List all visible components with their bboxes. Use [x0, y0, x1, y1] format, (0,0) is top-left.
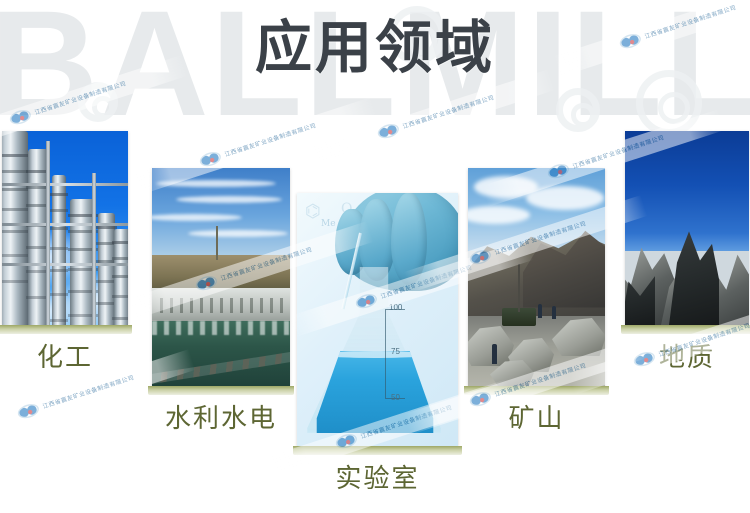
- fuxin-logo-icon: [198, 150, 223, 169]
- panel-mine-base: [464, 386, 609, 395]
- panel-mine-photo: [468, 168, 605, 386]
- panel-hydropower-base: [148, 386, 294, 395]
- gear-watermark-icon: [556, 88, 600, 132]
- application-fields-banner: BALL MILL 应用领域: [0, 0, 750, 513]
- flask-graduation-100: 100: [389, 303, 402, 312]
- panel-mine[interactable]: 矿山: [468, 168, 605, 424]
- panel-geology-caption: 地质: [595, 337, 750, 374]
- gear-watermark-icon: [78, 82, 118, 122]
- panel-laboratory-base: [293, 446, 462, 455]
- panel-chemical[interactable]: 化工: [2, 131, 128, 371]
- panel-chemical-caption: 化工: [0, 337, 158, 374]
- panel-geology[interactable]: 地质: [625, 131, 749, 371]
- panel-mine-caption: 矿山: [438, 398, 635, 435]
- panel-hydropower-caption: 水利水电: [122, 398, 320, 435]
- lab-formula-decor: ⌬: [305, 201, 321, 222]
- fuxin-logo-icon: [16, 402, 41, 421]
- panel-laboratory[interactable]: Me ⌬ O 100 75 50 实验室: [297, 193, 458, 483]
- panel-geology-base: [621, 325, 750, 334]
- panel-laboratory-caption: 实验室: [267, 458, 488, 495]
- lab-formula-label: Me: [321, 219, 336, 229]
- logo-watermark: 江西省赢友矿业设备制造有限公司: [16, 371, 136, 421]
- page-title: 应用领域: [0, 16, 750, 82]
- panel-laboratory-photo: Me ⌬ O 100 75 50: [297, 193, 458, 446]
- panel-chemical-base: [0, 325, 132, 334]
- flask-graduation-75: 75: [391, 347, 400, 356]
- panel-hydropower-photo: [152, 168, 290, 386]
- panel-geology-photo: [625, 131, 749, 325]
- panel-hydropower[interactable]: 水利水电: [152, 168, 290, 424]
- flask-graduation-50: 50: [391, 393, 400, 402]
- panel-chemical-photo: [2, 131, 128, 325]
